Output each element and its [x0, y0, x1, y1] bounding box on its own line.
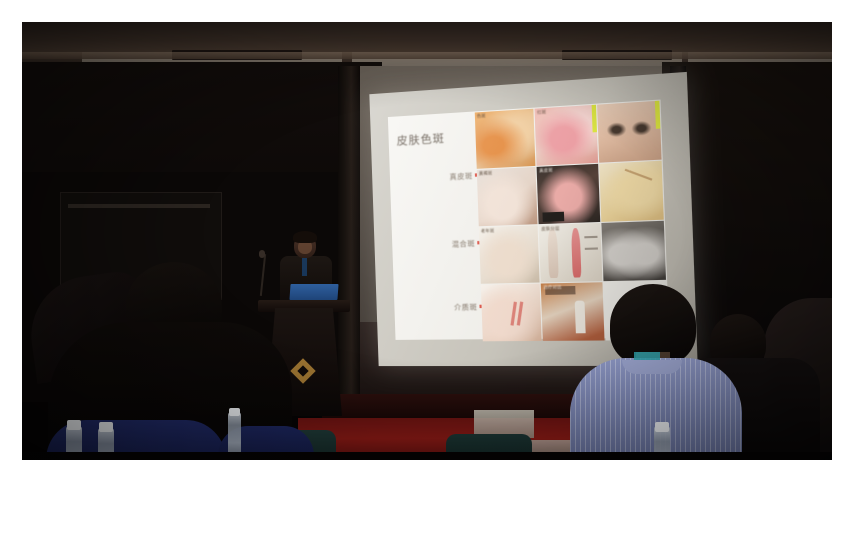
- water-bottle-left-2-cap: [99, 422, 113, 432]
- slide-photo-caption-1: 色斑: [477, 113, 486, 120]
- podium-laptop: [289, 284, 338, 300]
- water-bottle-left-3-cap: [229, 408, 240, 416]
- slide-photo-caption-8: 皮肤分层: [541, 225, 560, 232]
- water-bottle-center-cap: [655, 422, 669, 432]
- slide-photo-caption-4: 黄褐斑: [479, 170, 493, 177]
- floor-shadow: [22, 452, 832, 460]
- water-bottle-left-1-cap: [67, 420, 81, 430]
- slide-photo-caption-2: 红斑: [537, 109, 546, 116]
- attendee-center-collar: [622, 360, 682, 374]
- water-bottle-left-3: [228, 412, 241, 456]
- slide-photo-caption-7: 老年斑: [481, 228, 495, 235]
- highlight-bar-1: [591, 105, 596, 133]
- attendee-center-lanyard: [634, 352, 660, 360]
- speaker-hair: [293, 231, 317, 243]
- slide-photo-caption-5: 真皮斑: [539, 167, 553, 174]
- slide-photo-caption-11: 治疗对比: [543, 284, 562, 291]
- screenshot-canvas: 皮肤色斑 真皮斑 混合斑 介质斑 色斑 红斑: [0, 0, 864, 540]
- microphone-head-icon: [259, 250, 265, 258]
- highlight-bar-2: [655, 101, 661, 129]
- ceiling-trim: [22, 52, 832, 59]
- wall-panel-bar: [68, 204, 210, 208]
- speaker-tie: [302, 258, 307, 276]
- conference-photo: 皮肤色斑 真皮斑 混合斑 介质斑 色斑 红斑: [22, 22, 832, 460]
- pillar-left: [338, 66, 360, 406]
